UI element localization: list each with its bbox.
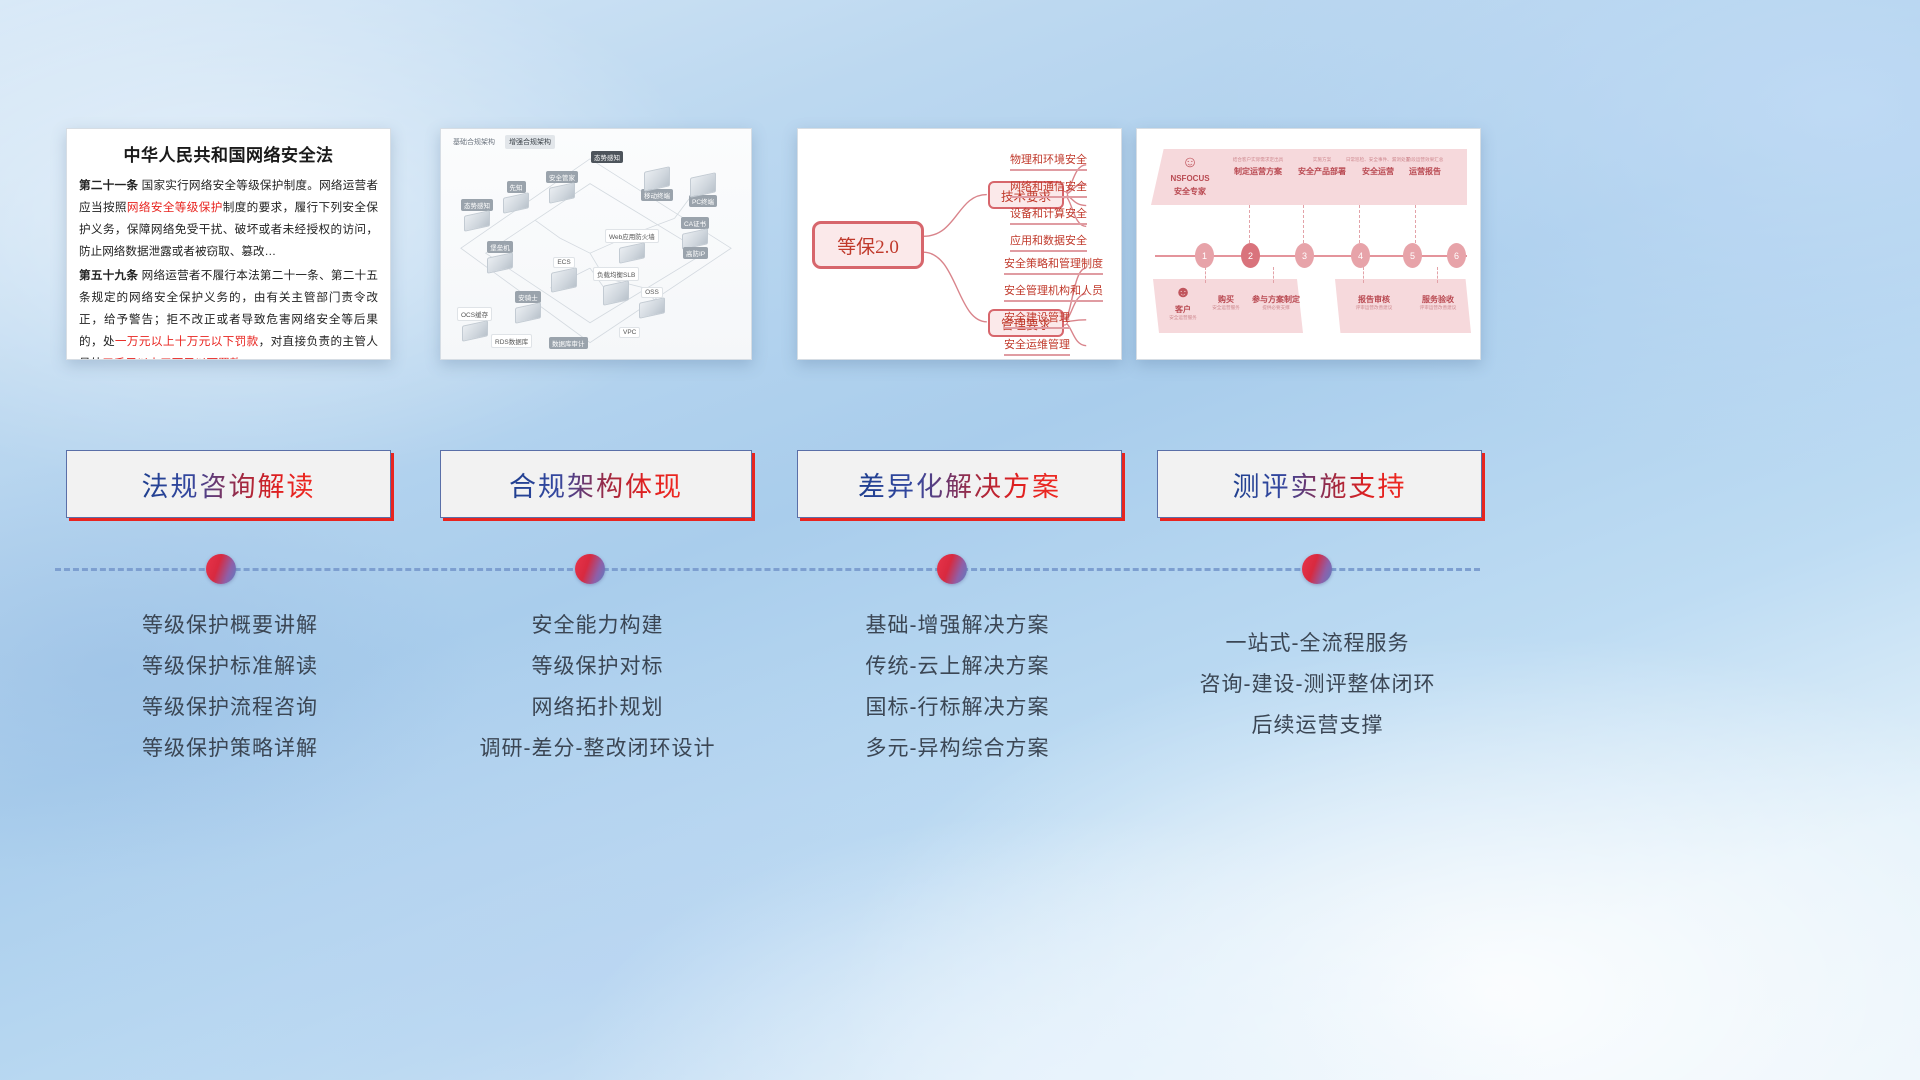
- timeline-marker-3[interactable]: [937, 554, 967, 584]
- timeline-dash-b3: [1363, 267, 1364, 283]
- card-compliance-architecture[interactable]: 基础合规架构 增强合规架构 态势感知 安全管家: [440, 128, 752, 360]
- arch-node-slb: 负载均衡SLB: [593, 267, 639, 303]
- list-item[interactable]: 等级保护对标: [430, 646, 765, 687]
- list-item[interactable]: 等级保护概要讲解: [60, 605, 400, 646]
- bottom-step-3-main: 报告审核: [1345, 294, 1403, 305]
- mindmap: 等保2.0 技术要求 管理要求 物理和环境安全 网络和通信安全 设备和计算安全 …: [798, 129, 1121, 359]
- timeline-dash-2: [1303, 205, 1304, 243]
- mindmap-leaf-mgmt-2[interactable]: 安全管理机构和人员: [1004, 282, 1103, 302]
- arch-node-rds: RDS数据库: [491, 334, 532, 348]
- list-item[interactable]: 调研-差分-整改闭环设计: [430, 728, 765, 769]
- arch-node-dark: 态势感知: [591, 151, 623, 163]
- heading-label-2: 合规架构体现: [509, 465, 683, 504]
- heading-box-compliance-architecture[interactable]: 合规架构体现: [440, 450, 752, 518]
- top-step-1-main: 制定运营方案: [1223, 166, 1293, 177]
- law-article-number-1: 第二十一条: [79, 179, 138, 192]
- customer-icon: ☻: [1157, 285, 1209, 301]
- detail-list-3: 基础-增强解决方案 传统-云上解决方案 国标-行标解决方案 多元-异构综合方案: [790, 605, 1125, 769]
- law-body: 第二十一条 国家实行网络安全等级保护制度。网络运营者应当按照网络安全等级保护制度…: [67, 175, 390, 360]
- timeline-step-1[interactable]: 1: [1195, 243, 1214, 268]
- list-item[interactable]: 多元-异构综合方案: [790, 728, 1125, 769]
- law-paragraph-2: 第五十九条 网络运营者不履行本法第二十一条、第二十五条规定的网络安全保护义务的，…: [79, 265, 378, 360]
- mindmap-leaf-mgmt-3[interactable]: 安全建设管理: [1004, 309, 1070, 329]
- heading-box-regulation-consulting[interactable]: 法规咨询解读: [66, 450, 391, 518]
- list-item[interactable]: 咨询-建设-测评整体闭环: [1145, 664, 1490, 705]
- detail-list-1: 等级保护概要讲解 等级保护标准解读 等级保护流程咨询 等级保护策略详解: [60, 605, 400, 769]
- timeline-bottom-step-1: 购买 安全运营服务: [1203, 291, 1249, 311]
- mindmap-leaf-tech-2[interactable]: 网络和通信安全: [1010, 178, 1087, 198]
- expert-icon: ☺: [1155, 155, 1225, 171]
- list-item[interactable]: 等级保护标准解读: [60, 646, 400, 687]
- bottom-step-3-sub: 评审运营改善建议: [1345, 305, 1403, 311]
- card-service-timeline[interactable]: ☺ NSFOCUS 安全专家 结合客户实际需求定出具 制定运营方案 实施方案 安…: [1136, 128, 1481, 360]
- list-item[interactable]: 一站式-全流程服务: [1145, 623, 1490, 664]
- arch-node-xianzhi: 先知: [503, 181, 529, 211]
- heading-row: 法规咨询解读 合规架构体现 差异化解决方案 测评实施支持: [0, 450, 1920, 522]
- architecture-diagram: 基础合规架构 增强合规架构 态势感知 安全管家: [441, 129, 751, 359]
- list-item[interactable]: 传统-云上解决方案: [790, 646, 1125, 687]
- bottom-step-2-main: 参与方案制定: [1245, 294, 1307, 305]
- timeline-top-step-1: 结合客户实际需求定出具 制定运营方案: [1223, 157, 1293, 177]
- bottom-step-2-sub: 提供必要支撑: [1245, 305, 1307, 311]
- bottom-step-1-sub2: 安全运营服务: [1203, 305, 1249, 311]
- top-step-4-main: 运营报告: [1395, 166, 1455, 177]
- timeline-marker-4[interactable]: [1302, 554, 1332, 584]
- service-timeline: ☺ NSFOCUS 安全专家 结合客户实际需求定出具 制定运营方案 实施方案 安…: [1137, 129, 1480, 359]
- mindmap-leaf-mgmt-1[interactable]: 安全策略和管理制度: [1004, 255, 1103, 275]
- mindmap-root-node[interactable]: 等保2.0: [812, 221, 924, 269]
- arch-node-bastion: 堡垒机: [487, 241, 513, 271]
- list-item[interactable]: 安全能力构建: [430, 605, 765, 646]
- arch-node-anqishi: 安骑士: [515, 291, 541, 321]
- list-item[interactable]: 后续运营支撑: [1145, 705, 1490, 746]
- arch-node-anti-ddos: 高防IP: [683, 247, 708, 259]
- timeline-customer: ☻ 客户 安全运营服务: [1157, 285, 1209, 321]
- list-item[interactable]: 国标-行标解决方案: [790, 687, 1125, 728]
- detail-list-2: 安全能力构建 等级保护对标 网络拓扑规划 调研-差分-整改闭环设计: [430, 605, 765, 769]
- top-step-1-sub: 结合客户实际需求定出具: [1223, 157, 1293, 163]
- timeline-bottom-step-3: 报告审核 评审运营改善建议: [1345, 291, 1403, 311]
- timeline-step-4[interactable]: 4: [1351, 243, 1370, 268]
- image-card-row: 中华人民共和国网络安全法 第二十一条 国家实行网络安全等级保护制度。网络运营者应…: [0, 128, 1920, 366]
- arch-node-ecs: ECS: [551, 257, 577, 290]
- timeline-top-step-4: 阶段运营效果汇总 运营报告: [1395, 157, 1455, 177]
- heading-label-3: 差异化解决方案: [858, 465, 1061, 504]
- list-item[interactable]: 网络拓扑规划: [430, 687, 765, 728]
- arch-node-ocs-cache: OCS缓存: [457, 307, 492, 339]
- law-paragraph-1: 第二十一条 国家实行网络安全等级保护制度。网络运营者应当按照网络安全等级保护制度…: [79, 175, 378, 263]
- timeline-step-5[interactable]: 5: [1403, 243, 1422, 268]
- timeline-dashed-line: [55, 568, 1480, 571]
- bottom-step-1-main: 购买: [1203, 294, 1249, 305]
- customer-label: 客户: [1157, 304, 1209, 315]
- brand-name: NSFOCUS: [1155, 174, 1225, 183]
- arch-node-vpc: VPC: [619, 327, 640, 338]
- mindmap-leaf-mgmt-4[interactable]: 安全运维管理: [1004, 336, 1070, 356]
- top-step-4-sub: 阶段运营效果汇总: [1395, 157, 1455, 163]
- timeline-dash-3: [1359, 205, 1360, 243]
- card-mindmap-dengbao[interactable]: 等保2.0 技术要求 管理要求 物理和环境安全 网络和通信安全 设备和计算安全 …: [797, 128, 1122, 360]
- timeline-step-6[interactable]: 6: [1447, 243, 1466, 268]
- list-item[interactable]: 等级保护流程咨询: [60, 687, 400, 728]
- list-item[interactable]: 基础-增强解决方案: [790, 605, 1125, 646]
- timeline-marker-2[interactable]: [575, 554, 605, 584]
- mindmap-leaf-tech-4[interactable]: 应用和数据安全: [1010, 232, 1087, 252]
- heading-label-4: 测评实施支持: [1233, 465, 1407, 504]
- timeline-dash-1: [1249, 205, 1250, 243]
- heading-box-evaluation-support[interactable]: 测评实施支持: [1157, 450, 1482, 518]
- law-highlight-1: 网络安全等级保护: [127, 201, 223, 214]
- heading-label-1: 法规咨询解读: [142, 465, 316, 504]
- arch-node-pc: PC终端: [689, 173, 717, 207]
- card-cybersecurity-law[interactable]: 中华人民共和国网络安全法 第二十一条 国家实行网络安全等级保护制度。网络运营者应…: [66, 128, 391, 360]
- law-article-number-2: 第五十九条: [79, 269, 138, 282]
- arch-node-oss: OSS: [639, 287, 665, 316]
- arch-node-security-butler: 安全管家: [546, 171, 578, 201]
- timeline-dash-b1: [1205, 267, 1206, 283]
- heading-box-differentiated-solution[interactable]: 差异化解决方案: [797, 450, 1122, 518]
- timeline-marker-1[interactable]: [206, 554, 236, 584]
- timeline-bottom-step-2: 参与方案制定 提供必要支撑: [1245, 291, 1307, 311]
- timeline-dash-b2: [1273, 267, 1274, 283]
- arch-node-waf: Web应用防火墙: [605, 229, 659, 261]
- timeline-dash-4: [1415, 205, 1416, 243]
- list-item[interactable]: 等级保护策略详解: [60, 728, 400, 769]
- arch-node-situational: 态势感知: [461, 199, 493, 229]
- law-highlight-2b: 五千元以上五万元以下罚款。: [102, 357, 253, 360]
- mindmap-leaf-tech-3[interactable]: 设备和计算安全: [1010, 205, 1087, 225]
- timeline-dash-b4: [1437, 267, 1438, 283]
- arch-node-mobile: 移动终端: [641, 167, 673, 201]
- brand-sub: 安全专家: [1155, 186, 1225, 197]
- bottom-step-4-main: 服务验收: [1409, 294, 1467, 305]
- timeline-bottom-step-4: 服务验收 评审运营改善建议: [1409, 291, 1467, 311]
- bottom-step-4-sub: 评审运营改善建议: [1409, 305, 1467, 311]
- bottom-step-1-sub: 安全运营服务: [1157, 315, 1209, 321]
- timeline-step-2[interactable]: 2: [1241, 243, 1260, 268]
- timeline-step-3[interactable]: 3: [1295, 243, 1314, 268]
- arch-node-db-audit: 数据库审计: [549, 337, 588, 349]
- law-highlight-2a: 一万元以上十万元以下罚款: [115, 335, 259, 348]
- law-title: 中华人民共和国网络安全法: [67, 141, 390, 166]
- detail-list-4: 一站式-全流程服务 咨询-建设-测评整体闭环 后续运营支撑: [1145, 623, 1490, 746]
- arch-node-ca-cert: CA证书: [681, 217, 709, 247]
- mindmap-leaf-tech-1[interactable]: 物理和环境安全: [1010, 151, 1087, 171]
- timeline-brand: ☺ NSFOCUS 安全专家: [1155, 155, 1225, 197]
